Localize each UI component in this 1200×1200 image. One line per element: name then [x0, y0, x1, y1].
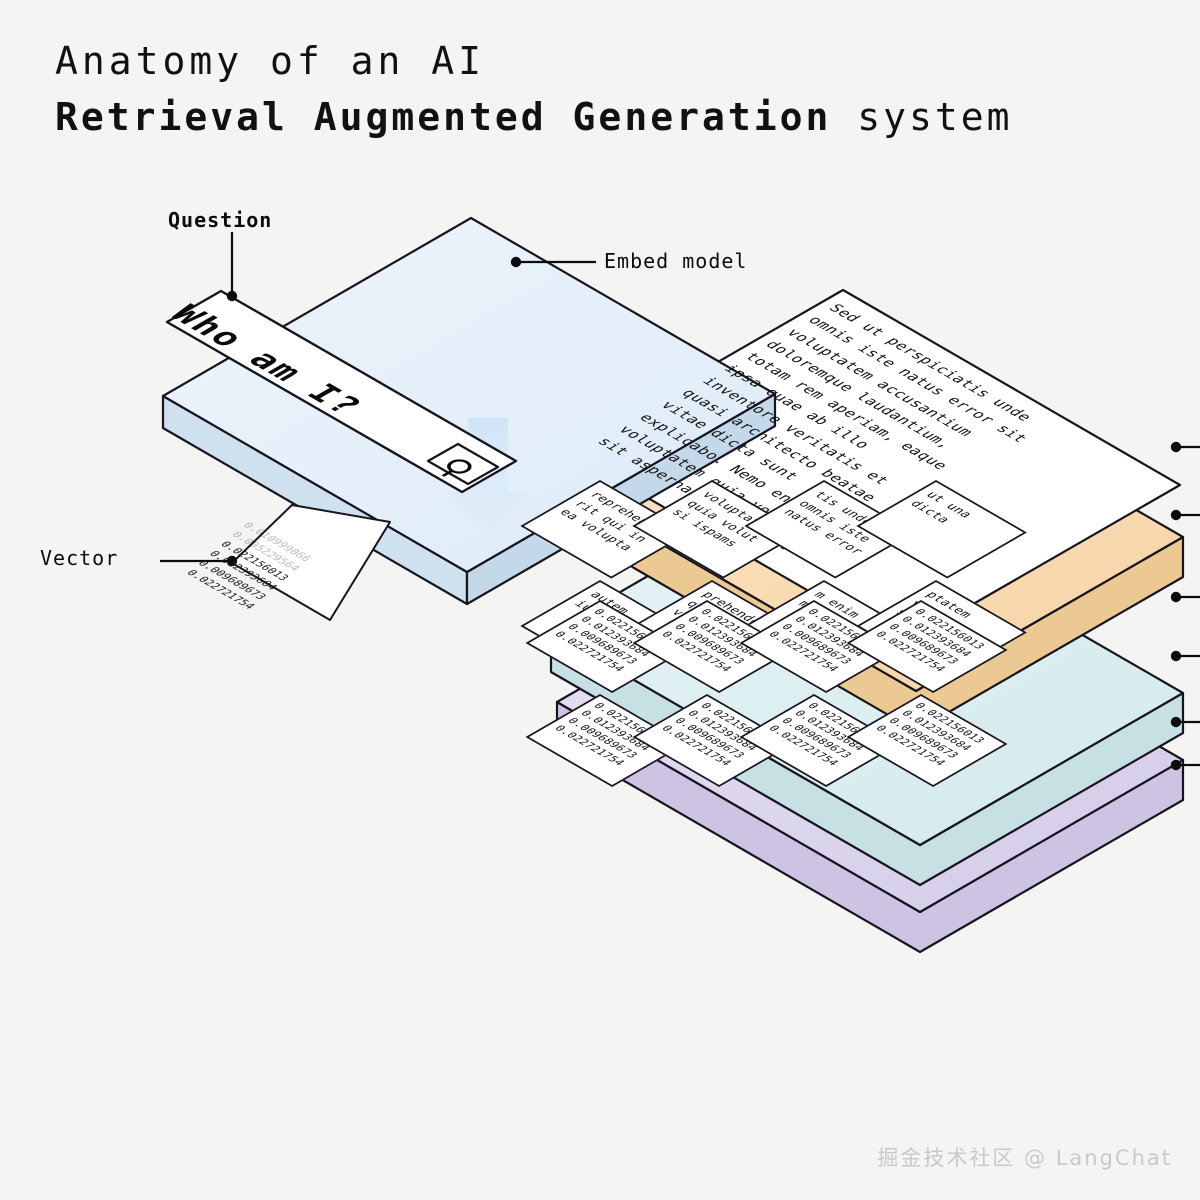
leader-dot-question — [227, 291, 237, 301]
callout-vector: Vector — [40, 546, 118, 570]
leader-dot-right-4 — [1171, 651, 1181, 661]
callout-embed-model: Embed model — [604, 249, 747, 273]
leader-dot-right-2 — [1171, 510, 1181, 520]
watermark: 掘金技术社区 @ LangChat — [877, 1142, 1172, 1172]
callout-vector-label: Vector — [40, 546, 118, 570]
leader-dot-vector — [227, 556, 237, 566]
callout-question: Question — [168, 208, 272, 232]
leader-dot-embed-model — [511, 257, 521, 267]
leader-dot-right-5 — [1171, 717, 1181, 727]
leader-dot-right-1 — [1171, 442, 1181, 452]
callout-embed-model-label: Embed model — [604, 249, 747, 273]
rag-isometric-diagram — [0, 0, 1200, 1200]
leader-dot-right-3 — [1171, 592, 1181, 602]
vector-sample-card — [232, 505, 390, 620]
callout-question-label: Question — [168, 208, 272, 232]
leader-dot-right-6 — [1171, 760, 1181, 770]
